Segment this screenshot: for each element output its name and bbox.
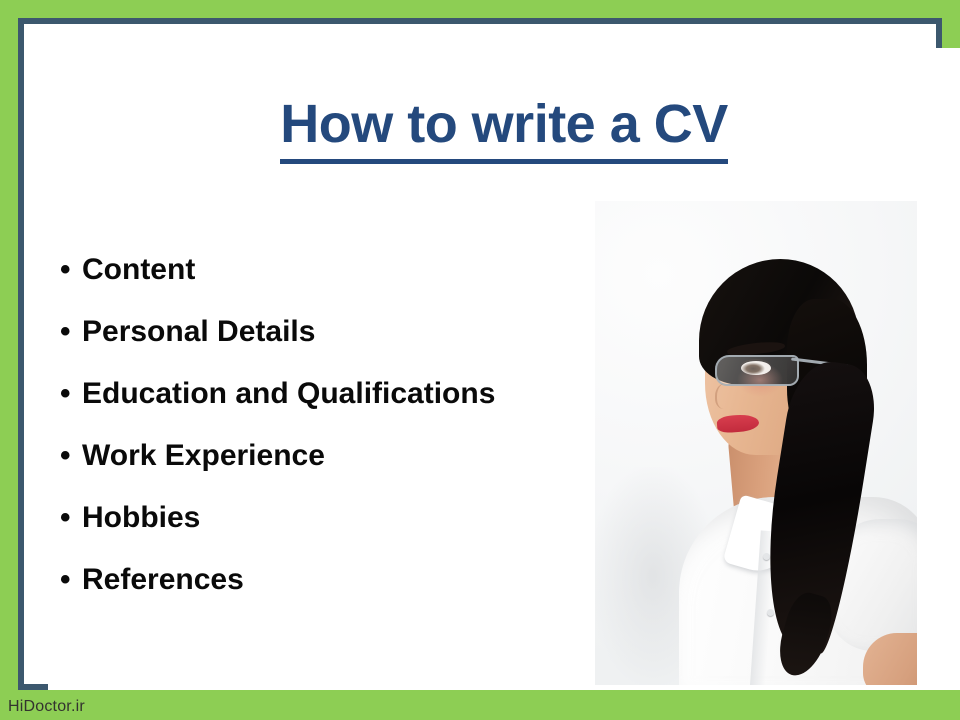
slide-inner-border: How to write a CV • Content • Personal D…	[18, 18, 942, 690]
footer-band: HiDoctor.ir	[0, 690, 960, 720]
list-item: • Content	[60, 253, 660, 315]
bullet-icon: •	[60, 565, 82, 595]
bullet-icon: •	[60, 503, 82, 533]
bullet-icon: •	[60, 255, 82, 285]
title-container: How to write a CV	[48, 96, 960, 164]
list-item: • Hobbies	[60, 501, 660, 563]
eyeglass-lens	[715, 355, 799, 386]
list-item-label: Education and Qualifications	[82, 377, 495, 411]
list-item: • Personal Details	[60, 315, 660, 377]
blouse-button	[763, 553, 770, 560]
list-item-label: Content	[82, 253, 195, 287]
list-item: • Work Experience	[60, 439, 660, 501]
watermark-label: HiDoctor.ir	[8, 698, 85, 716]
list-item: • Education and Qualifications	[60, 377, 660, 439]
list-item-label: References	[82, 563, 244, 597]
list-item-label: Personal Details	[82, 315, 315, 349]
bullet-icon: •	[60, 441, 82, 471]
slide: How to write a CV • Content • Personal D…	[0, 0, 960, 720]
list-item-label: Hobbies	[82, 501, 200, 535]
blouse-button	[767, 609, 774, 616]
list-item: • References	[60, 563, 660, 625]
nose	[715, 383, 737, 409]
bullet-list: • Content • Personal Details • Education…	[60, 253, 660, 625]
slide-canvas: How to write a CV • Content • Personal D…	[48, 48, 960, 708]
page-title: How to write a CV	[280, 96, 728, 164]
list-item-label: Work Experience	[82, 439, 325, 473]
bullet-icon: •	[60, 317, 82, 347]
bullet-icon: •	[60, 379, 82, 409]
